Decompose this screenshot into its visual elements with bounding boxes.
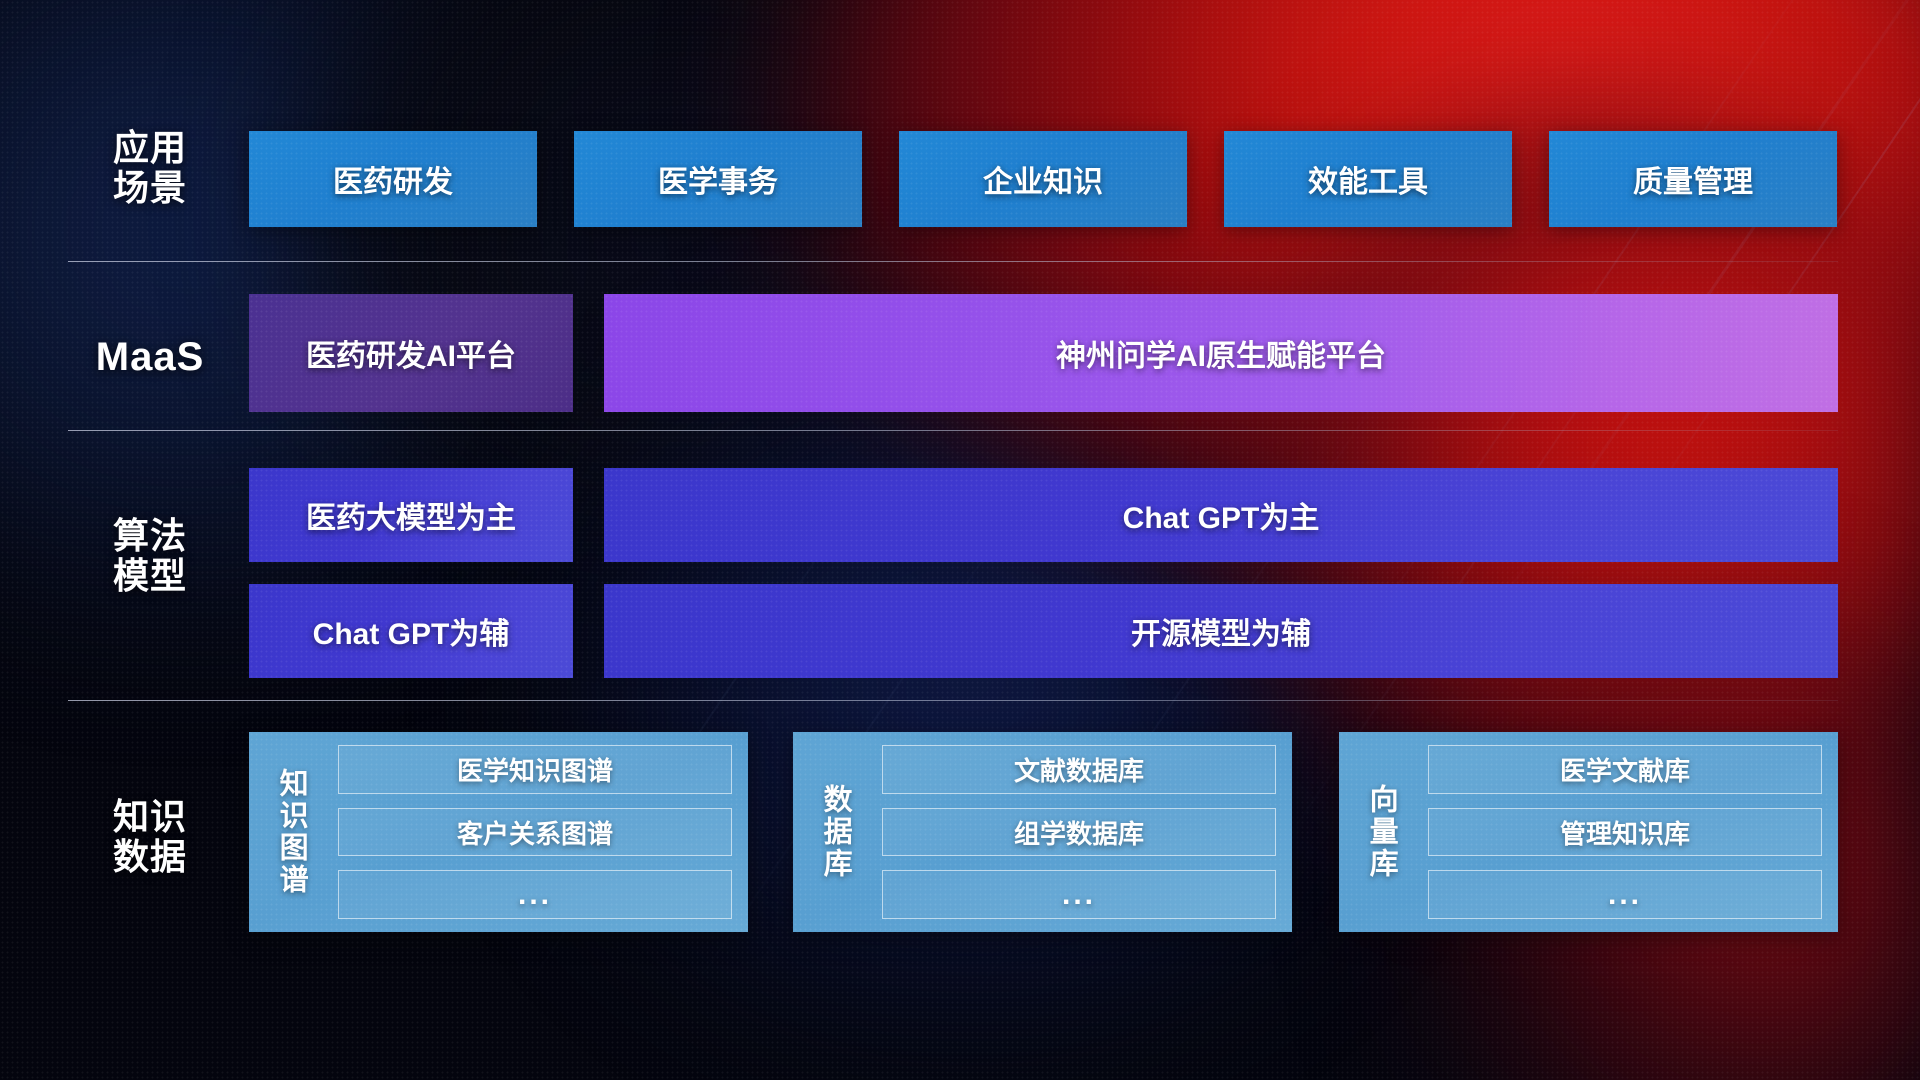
knowledge-item[interactable]: 医学文献库 <box>1428 745 1822 794</box>
knowledge-item[interactable]: 管理知识库 <box>1428 808 1822 857</box>
app-box-quality-management[interactable]: 质量管理 <box>1549 131 1837 227</box>
algo-box-chatgpt-primary[interactable]: Chat GPT为主 <box>604 468 1838 562</box>
algo-box-chatgpt-secondary[interactable]: Chat GPT为辅 <box>249 584 573 678</box>
knowledge-group-knowledge-graph[interactable]: 知识图谱 医学知识图谱 客户关系图谱 ... <box>249 732 748 932</box>
divider-after-application-scenarios <box>68 261 1838 262</box>
divider-after-maas <box>68 430 1838 431</box>
algo-box-medicine-large-model-primary[interactable]: 医药大模型为主 <box>249 468 573 562</box>
knowledge-group-items: 医学知识图谱 客户关系图谱 ... <box>338 745 732 919</box>
row-label-maas: MaaS <box>65 335 235 380</box>
knowledge-item[interactable]: 医学知识图谱 <box>338 745 732 794</box>
knowledge-item-more[interactable]: ... <box>338 870 732 919</box>
knowledge-group-items: 医学文献库 管理知识库 ... <box>1428 745 1822 919</box>
app-box-medicine-rd[interactable]: 医药研发 <box>249 131 537 227</box>
app-box-enterprise-knowledge[interactable]: 企业知识 <box>899 131 1187 227</box>
knowledge-item-more[interactable]: ... <box>1428 870 1822 919</box>
row-label-algorithm-models: 算法模型 <box>65 516 235 597</box>
knowledge-group-vector-store[interactable]: 向量库 医学文献库 管理知识库 ... <box>1339 732 1838 932</box>
maas-box-medicine-rd-ai-platform[interactable]: 医药研发AI平台 <box>249 294 573 412</box>
knowledge-group-title: 知识图谱 <box>262 745 320 919</box>
knowledge-group-title: 向量库 <box>1352 745 1410 919</box>
app-box-medical-affairs[interactable]: 医学事务 <box>574 131 862 227</box>
app-box-efficiency-tools[interactable]: 效能工具 <box>1224 131 1512 227</box>
divider-after-algorithm-models <box>68 700 1838 701</box>
knowledge-item-more[interactable]: ... <box>882 870 1276 919</box>
knowledge-group-database[interactable]: 数据库 文献数据库 组学数据库 ... <box>793 732 1292 932</box>
row-label-knowledge-data: 知识数据 <box>65 797 235 878</box>
knowledge-item[interactable]: 客户关系图谱 <box>338 808 732 857</box>
architecture-diagram: 应用场景 医药研发 医学事务 企业知识 效能工具 质量管理 MaaS 医药研发A… <box>0 0 1920 1080</box>
knowledge-item[interactable]: 组学数据库 <box>882 808 1276 857</box>
maas-box-shenzhou-wenxue-platform[interactable]: 神州问学AI原生赋能平台 <box>604 294 1838 412</box>
knowledge-group-title: 数据库 <box>806 745 864 919</box>
row-label-application-scenarios: 应用场景 <box>65 128 235 209</box>
knowledge-group-items: 文献数据库 组学数据库 ... <box>882 745 1276 919</box>
knowledge-item[interactable]: 文献数据库 <box>882 745 1276 794</box>
algo-box-opensource-model-secondary[interactable]: 开源模型为辅 <box>604 584 1838 678</box>
